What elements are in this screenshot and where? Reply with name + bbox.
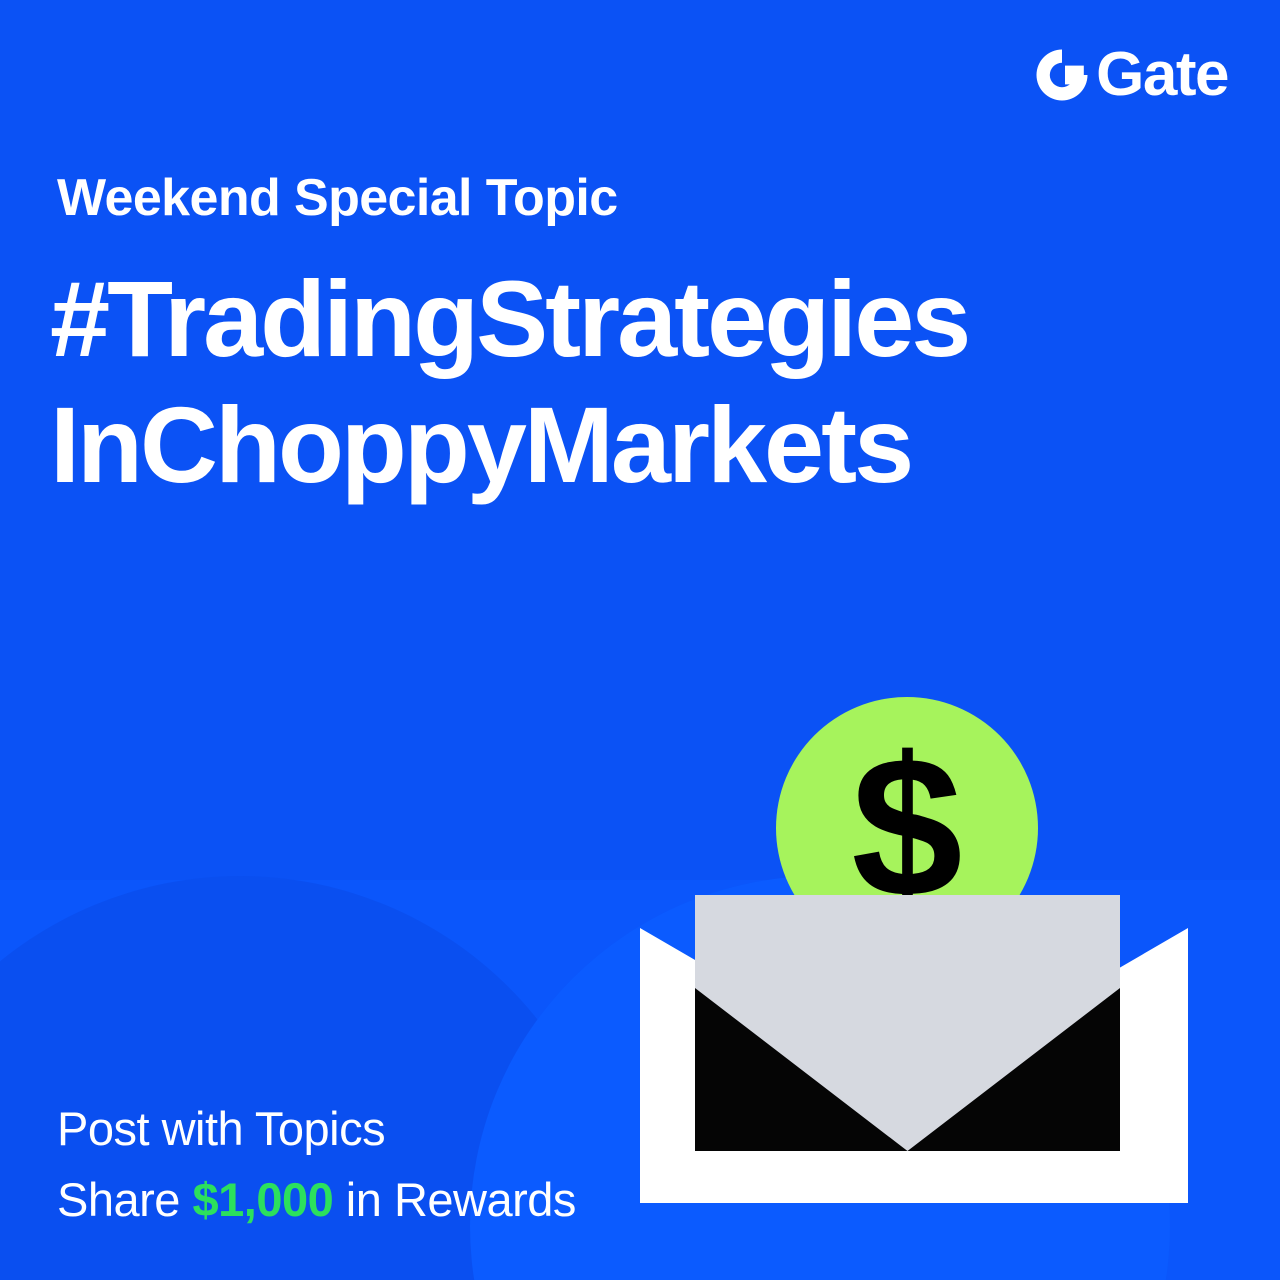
cta-reward-amount: $1,000: [192, 1173, 333, 1226]
cta-prefix: Share: [57, 1173, 192, 1226]
cta-block: Post with Topics Share $1,000 in Rewards: [57, 1093, 576, 1236]
promo-poster: Gate Weekend Special Topic #TradingStrat…: [0, 0, 1280, 1280]
page-title: #TradingStrategiesInChoppyMarkets: [50, 256, 980, 509]
cta-suffix: in Rewards: [333, 1173, 576, 1226]
brand-wordmark: Gate: [1096, 44, 1228, 106]
cta-line-1: Post with Topics: [57, 1093, 576, 1164]
cta-line-2: Share $1,000 in Rewards: [57, 1164, 576, 1235]
gate-circle-mark-icon: [1034, 47, 1090, 103]
brand-logo[interactable]: Gate: [1034, 44, 1228, 106]
eyebrow-text: Weekend Special Topic: [57, 170, 618, 227]
